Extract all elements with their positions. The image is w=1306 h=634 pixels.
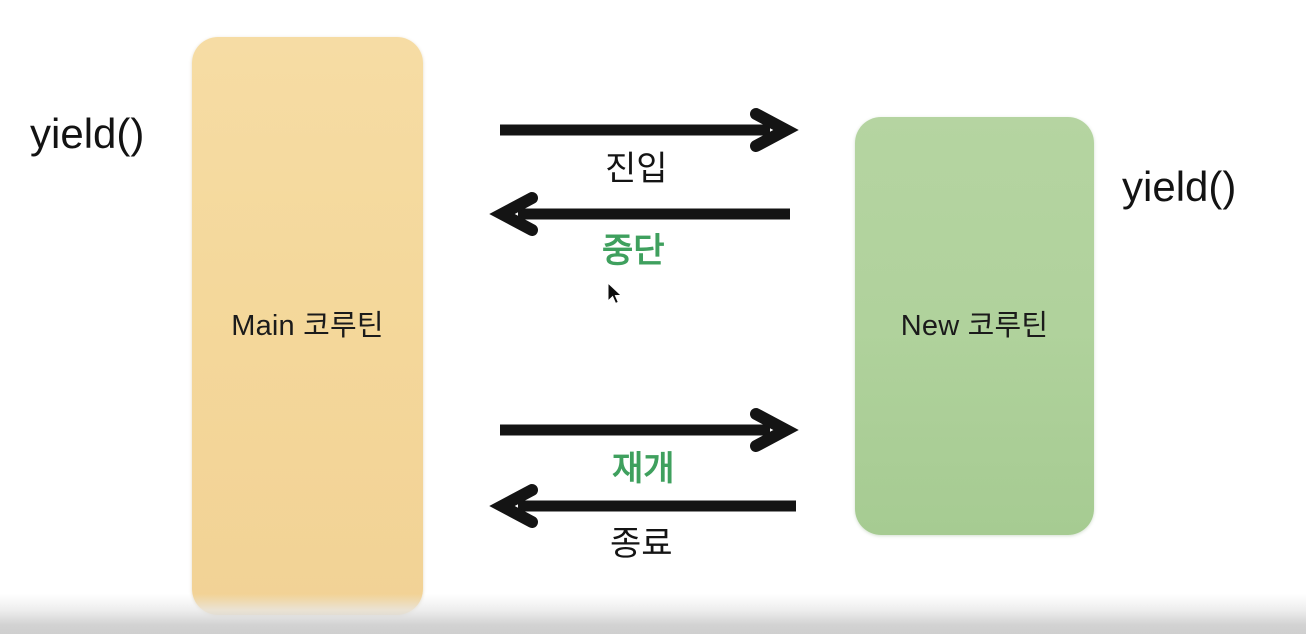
arrow-enter-icon [498, 112, 790, 148]
arrow-resume-label: 재개 [612, 452, 675, 486]
arrow-enter-label: 진입 [605, 152, 668, 186]
arrow-finish-label: 종료 [610, 527, 673, 561]
mouse-pointer-icon [607, 282, 623, 306]
new-coroutine-box: New 코루틴 [855, 117, 1094, 535]
arrow-finish-icon [498, 488, 796, 524]
diagram-canvas: yield() Main 코루틴 New 코루틴 yield() 진입 중단 재… [0, 0, 1306, 634]
main-coroutine-label: Main 코루틴 [231, 312, 384, 341]
arrow-suspend-icon [498, 196, 790, 232]
arrow-suspend-label: 중단 [602, 234, 665, 268]
yield-label-left: yield() [30, 113, 144, 155]
main-coroutine-box: Main 코루틴 [192, 37, 423, 615]
yield-label-right: yield() [1122, 166, 1236, 208]
arrow-resume-icon [498, 412, 790, 448]
new-coroutine-label: New 코루틴 [901, 312, 1049, 341]
